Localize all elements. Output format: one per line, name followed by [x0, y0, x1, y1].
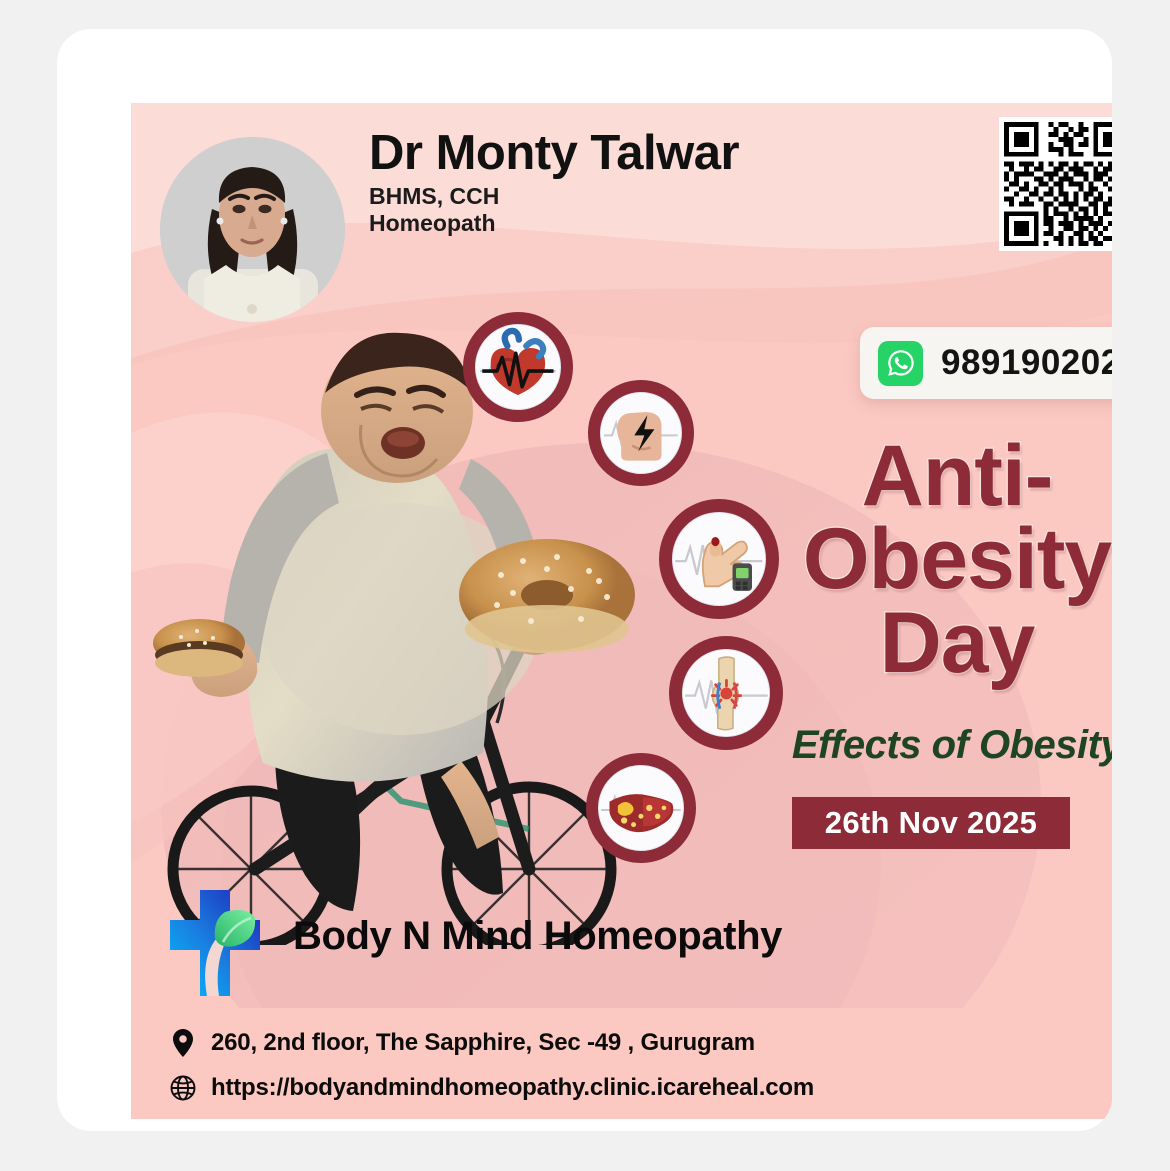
footer-website-text[interactable]: https://bodyandmindhomeopathy.clinic.ica…: [211, 1074, 814, 1102]
heart-disease-icon: [463, 312, 573, 422]
footer-contact-bar: 260, 2nd floor, The Sapphire, Sec -49 , …: [131, 1008, 1112, 1119]
clinic-name: Body N Mind Homeopathy: [293, 914, 782, 959]
campaign-title: Anti- Obesity Day: [761, 435, 1112, 685]
title-line-1: Anti-: [761, 435, 1112, 518]
footer-address-row: 260, 2nd floor, The Sapphire, Sec -49 , …: [169, 1020, 1112, 1065]
footer-website-row[interactable]: https://bodyandmindhomeopathy.clinic.ica…: [169, 1065, 1112, 1110]
poster-card: Dr Monty Talwar BHMS, CCH Homeopath: [57, 29, 1112, 1131]
heart-disease-glyph: [475, 324, 561, 410]
stroke-brain-glyph: [600, 392, 683, 475]
whatsapp-icon: [878, 341, 923, 386]
whatsapp-contact-pill[interactable]: 9891902029: [860, 327, 1112, 399]
campaign-subtitle: Effects of Obesity: [761, 723, 1112, 768]
poster-canvas: Dr Monty Talwar BHMS, CCH Homeopath: [131, 103, 1112, 1119]
title-line-2: Obesity: [761, 518, 1112, 601]
globe-icon: [169, 1073, 197, 1103]
footer-address-text: 260, 2nd floor, The Sapphire, Sec -49 , …: [211, 1029, 755, 1057]
fatty-liver-glyph: [598, 765, 684, 851]
joint-pain-glyph: [682, 649, 771, 738]
doctor-avatar: [160, 137, 345, 322]
whatsapp-number: 9891902029: [941, 343, 1112, 383]
obese-man-on-bicycle-photo: [131, 329, 651, 945]
event-date-badge: 26th Nov 2025: [792, 797, 1070, 849]
medical-cross-leaf-logo: [167, 884, 263, 1002]
doctor-credentials: BHMS, CCH Homeopath: [369, 183, 499, 237]
stroke-brain-icon: [588, 380, 694, 486]
diabetes-glucometer-glyph: [672, 512, 766, 606]
qr-code[interactable]: [999, 117, 1112, 251]
doctor-name: Dr Monty Talwar: [369, 125, 739, 181]
fatty-liver-icon: [586, 753, 696, 863]
location-pin-icon: [169, 1028, 197, 1058]
title-line-3: Day: [761, 602, 1112, 685]
poster-page: Dr Monty Talwar BHMS, CCH Homeopath: [0, 0, 1170, 1171]
